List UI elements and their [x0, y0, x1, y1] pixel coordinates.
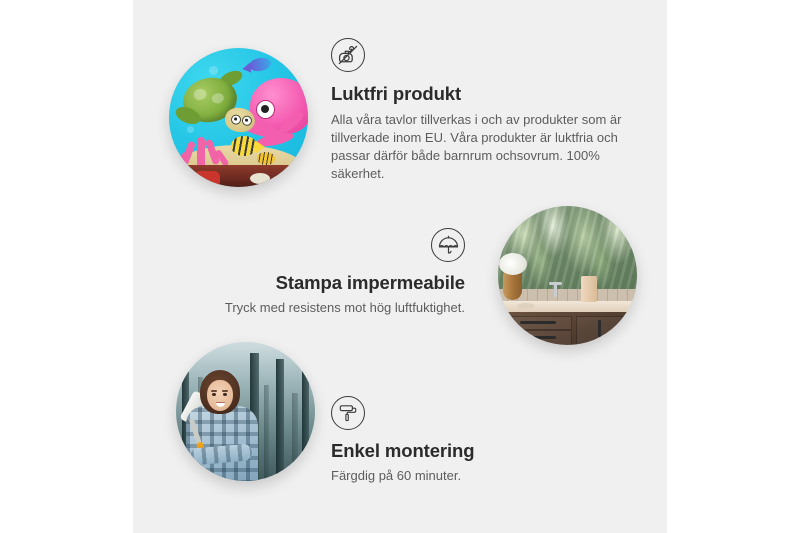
woman-face: [207, 380, 233, 411]
striped-fish-icon: [257, 152, 275, 165]
feature-body: Färgdig på 60 minuter.: [331, 467, 611, 485]
tree-trunk: [292, 393, 298, 481]
drawer-handle: [520, 336, 556, 339]
turtle-eye: [231, 114, 242, 125]
feature-odourless: Luktfri produkt Alla våra tavlor tillver…: [331, 38, 631, 183]
coral-icon: [179, 129, 229, 169]
feature-title: Luktfri produkt: [331, 82, 631, 105]
feature-mounting: Enkel montering Färgdig på 60 minuter.: [331, 396, 611, 485]
underwater-cartoon-photo: [169, 48, 308, 187]
tree-trunk: [302, 369, 309, 481]
wooden-vanity: [498, 312, 637, 345]
eyebrow: [222, 390, 228, 392]
decorator-forest-photo: [176, 342, 315, 481]
eye: [212, 393, 216, 396]
cabinet-handle: [598, 320, 601, 337]
eye: [223, 393, 227, 396]
no-fragrance-spray-icon: [331, 38, 365, 72]
feature-title: Enkel montering: [331, 439, 611, 462]
vanity-cabinet-door: [576, 316, 631, 345]
eyebrow: [211, 390, 217, 392]
tree-trunk: [264, 385, 269, 481]
photo-bottom-strip: [169, 165, 308, 187]
faucet-icon: [554, 284, 557, 297]
smiling-mouth: [216, 402, 225, 407]
drawer-handle: [520, 321, 556, 324]
turtle-eye: [241, 115, 252, 126]
paint-roller-icon: [331, 396, 365, 430]
feature-waterproof: Stampa impermeabile Tryck med resistens …: [185, 228, 465, 317]
umbrella-icon: [431, 228, 465, 262]
candle-icon: [581, 276, 597, 302]
bubble-icon: [209, 66, 218, 75]
infographic-root: Luktfri produkt Alla våra tavlor tillver…: [0, 0, 800, 533]
striped-fish-icon: [231, 136, 257, 156]
feature-body: Tryck med resistens mot hög luftfuktighe…: [185, 299, 465, 317]
feature-body: Alla våra tavlor tillverkas i och av pro…: [331, 111, 631, 183]
tree-trunk: [276, 359, 284, 481]
feature-title: Stampa impermeabile: [185, 271, 465, 294]
octopus-eye: [256, 100, 275, 119]
bathroom-wallpaper-photo: [498, 206, 637, 345]
